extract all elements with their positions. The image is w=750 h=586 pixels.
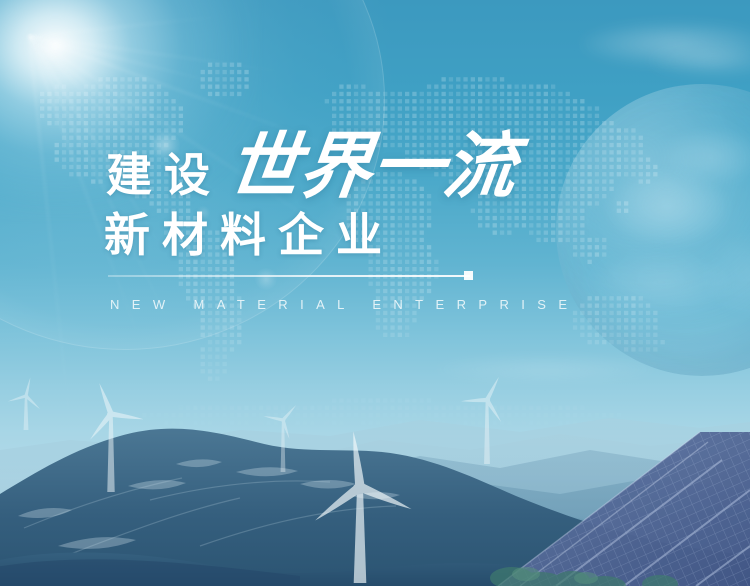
headline-line-1: 建设 世界一流	[106, 131, 516, 203]
hero-banner: 建设 世界一流 新材料企业 NEW MATERIAL ENTERPRISE	[0, 0, 750, 586]
divider-end-cap	[464, 271, 473, 280]
headline-subtitle: NEW MATERIAL ENTERPRISE	[110, 297, 579, 312]
headline-emphasis: 世界一流	[224, 131, 521, 203]
headline-block: 建设 世界一流 新材料企业 NEW MATERIAL ENTERPRISE	[0, 0, 750, 586]
headline-divider	[108, 275, 470, 277]
headline-line-2: 新材料企业	[104, 212, 394, 258]
headline-prefix: 建设	[106, 152, 222, 203]
